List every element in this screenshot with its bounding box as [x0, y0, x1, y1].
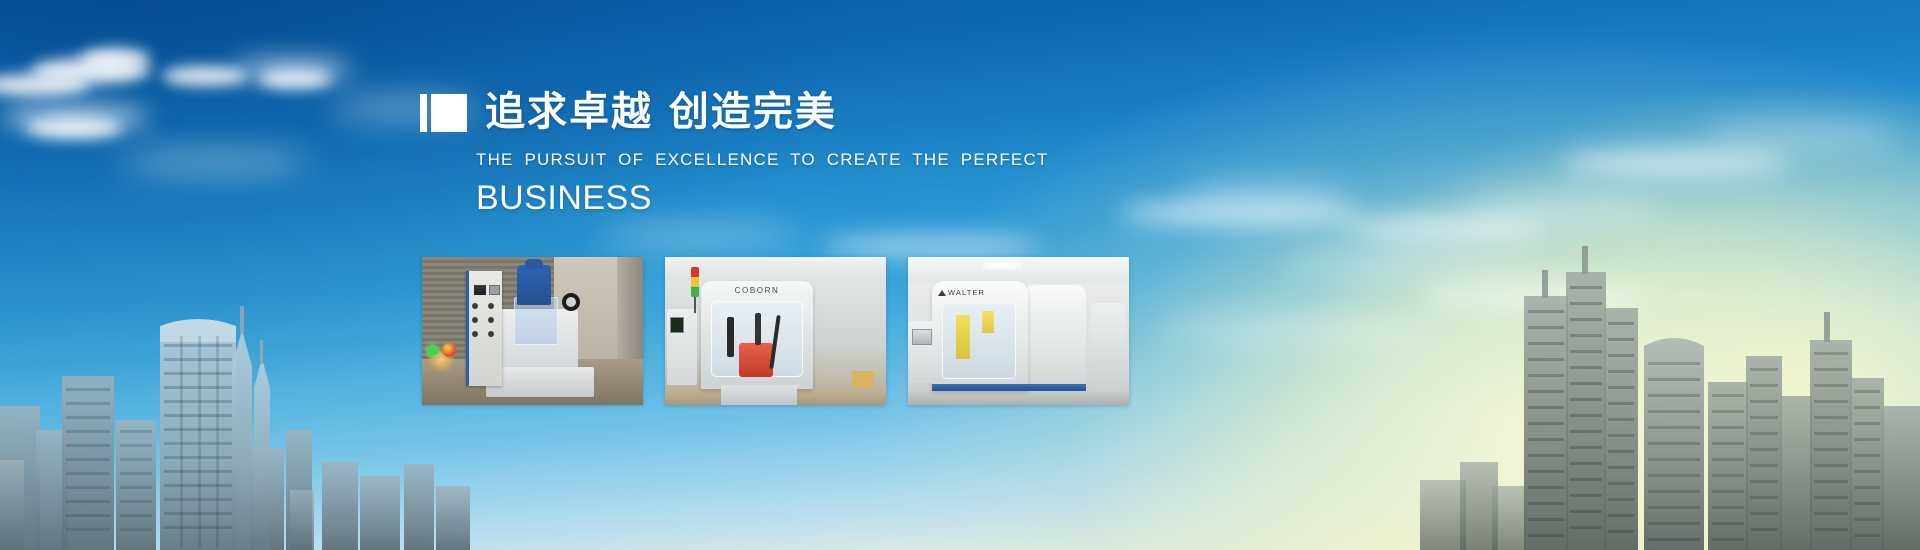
- machine-handwheel: [562, 293, 580, 311]
- panel-knob: [488, 331, 494, 337]
- machine-cabinet-right: [1091, 303, 1125, 389]
- banner-text-block: 追求卓越 创造完美 THE PURSUIT OF EXCELLENCE TO C…: [420, 88, 1120, 216]
- machine-yellow-component: [982, 311, 994, 333]
- workpiece-red: [739, 343, 773, 377]
- panel-knob: [488, 303, 494, 309]
- walter-tool-grinder-photo[interactable]: WALTER: [908, 257, 1129, 405]
- cnc-surface-grinder-photo[interactable]: [422, 257, 643, 405]
- cloud-shape: [820, 236, 1040, 256]
- bar-thin-shape: [420, 94, 427, 132]
- walter-brand-text: WALTER: [948, 288, 985, 297]
- bar-block-icon: [420, 94, 467, 132]
- panel-display-secondary: [489, 285, 500, 295]
- machine-pedestal: [721, 385, 797, 405]
- machine-spindle: [517, 265, 551, 305]
- panel-knob: [472, 317, 478, 323]
- city-skyline-right: [1420, 150, 1920, 550]
- cloud-shape: [1700, 124, 1900, 148]
- console-display: [912, 329, 932, 345]
- cloud-shape: [80, 48, 150, 70]
- ceiling-light: [982, 261, 1022, 270]
- panel-knob: [488, 317, 494, 323]
- coborn-grinder-photo[interactable]: COBORN: [665, 257, 886, 405]
- panel-power-button: [427, 345, 438, 356]
- cloud-shape: [1180, 182, 1350, 204]
- promo-banner: 追求卓越 创造完美 THE PURSUIT OF EXCELLENCE TO C…: [0, 0, 1920, 550]
- walter-triangle-icon: [938, 290, 946, 296]
- workshop-floor: [908, 391, 1129, 405]
- headline-chinese: 追求卓越 创造完美: [485, 90, 837, 134]
- machine-arm: [727, 317, 734, 357]
- panel-knob: [472, 331, 478, 337]
- business-word: BUSINESS: [476, 180, 1120, 216]
- machine-arm: [755, 313, 761, 345]
- signal-tower-pole: [694, 297, 696, 313]
- panel-display: [474, 285, 486, 295]
- machine-enclosure-secondary: [1024, 285, 1086, 391]
- bar-block-shape: [431, 94, 467, 132]
- machine-spindle-cap: [525, 259, 543, 269]
- cloud-shape: [1160, 320, 1440, 342]
- subtitle-english: THE PURSUIT OF EXCELLENCE TO CREATE THE …: [476, 150, 1120, 170]
- city-skyline-left: [0, 130, 470, 550]
- signal-tower-light: [691, 267, 699, 297]
- cloud-shape: [1120, 200, 1360, 226]
- workshop-curtain: [617, 257, 643, 375]
- machine-control-panel: [466, 271, 502, 386]
- walter-brand-label: WALTER: [938, 288, 985, 297]
- machine-base: [486, 367, 594, 397]
- headline-row: 追求卓越 创造完美: [420, 88, 1120, 136]
- enclosure-glass-door: [942, 303, 1016, 379]
- coborn-brand-label: COBORN: [717, 286, 797, 295]
- cabinet-display: [670, 317, 684, 333]
- machine-yellow-component: [956, 315, 970, 359]
- panel-emergency-stop-button: [442, 343, 456, 357]
- cloud-shape: [600, 226, 800, 246]
- cloud-shape: [258, 70, 332, 88]
- product-photo-strip: COBORN WALTER: [422, 257, 1129, 405]
- machine-blue-stripe: [932, 384, 1086, 391]
- storage-box: [852, 371, 874, 387]
- panel-knob: [472, 303, 478, 309]
